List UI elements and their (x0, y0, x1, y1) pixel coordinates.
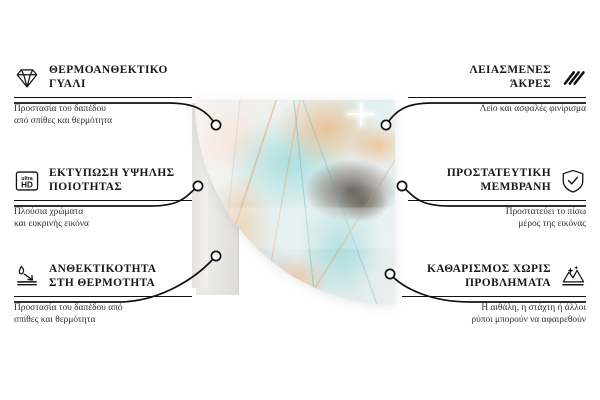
infographic-stage: ΘΕΡΜΟΑΝΘΕΚΤΙΚΟ ΓΥΑΛΙ Προστασία του δαπέδ… (0, 0, 600, 400)
feature-header: ΚΑΘΑΡΙΣΜΟΣ ΧΩΡΙΣ ΠΡΟΒΛΗΜΑΤΑ (402, 263, 586, 291)
connector-dot-left-2 (193, 181, 202, 190)
feature-title: ΠΡΟΣΤΑΤΕΥΤΙΚΗ ΜΕΜΒΡΑΝΗ (408, 167, 551, 195)
connector-dot-right-3 (385, 269, 394, 278)
feature-divider (408, 200, 586, 201)
connector-dot-right-1 (381, 120, 390, 129)
feature-header: ΘΕΡΜΟΑΝΘΕΚΤΙΚΟ ΓΥΑΛΙ (14, 64, 192, 92)
feature-header: ΛΕΙΑΣΜΕΝΕΣ ΆΚΡΕΣ (408, 64, 586, 92)
feature-protective-film: ΠΡΟΣΤΑΤΕΥΤΙΚΗ ΜΕΜΒΡΑΝΗ Προστατεύει το πί… (408, 167, 586, 231)
diamond-icon (14, 65, 40, 91)
feature-header: ultra HD ΕΚΤΥΠΩΣΗ ΥΨΗΛΗΣ ΠΟΙΟΤΗΤΑΣ (14, 167, 192, 195)
connector-dot-left-3 (211, 251, 220, 260)
feature-title: ΕΚΤΥΠΩΣΗ ΥΨΗΛΗΣ ΠΟΙΟΤΗΤΑΣ (49, 167, 174, 195)
connector-dot-right-2 (397, 181, 406, 190)
connector-dot-left-1 (211, 120, 220, 129)
feature-subtitle: Προστασία του δαπέδου από σπίθες και θερ… (14, 302, 192, 327)
feature-heat-resistance: ΑΝΘΕΚΤΙΚΟΤΗΤΑ ΣΤΗ ΘΕΡΜΟΤΗΤΑ Προστασία το… (14, 263, 192, 327)
heat-resistance-icon (14, 264, 40, 290)
feature-divider (14, 296, 192, 297)
feature-heat-resistant-glass: ΘΕΡΜΟΑΝΘΕΚΤΙΚΟ ΓΥΑΛΙ Προστασία του δαπέδ… (14, 64, 192, 128)
feature-title: ΚΑΘΑΡΙΣΜΟΣ ΧΩΡΙΣ ΠΡΟΒΛΗΜΑΤΑ (402, 263, 551, 291)
feature-header: ΠΡΟΣΤΑΤΕΥΤΙΚΗ ΜΕΜΒΡΑΝΗ (408, 167, 586, 195)
feature-header: ΑΝΘΕΚΤΙΚΟΤΗΤΑ ΣΤΗ ΘΕΡΜΟΤΗΤΑ (14, 263, 192, 291)
feature-subtitle: Η αιθάλη, η στάχτη ή άλλοι ρύποι μπορούν… (402, 302, 586, 327)
polished-edges-icon (560, 65, 586, 91)
sparkle-clean-icon (560, 264, 586, 290)
feature-subtitle: Λείο και ασφαλές φινίρισμα (408, 103, 586, 115)
feature-divider (14, 200, 192, 201)
feature-title: ΘΕΡΜΟΑΝΘΕΚΤΙΚΟ ΓΥΑΛΙ (49, 64, 168, 92)
feature-subtitle: Προστασία του δαπέδου από σπίθες και θερ… (14, 103, 192, 128)
svg-text:HD: HD (21, 180, 33, 189)
shield-check-icon (560, 168, 586, 194)
feature-subtitle: Πλούσια χρώματα και ευκρινής εικόνα (14, 206, 192, 231)
feature-title: ΑΝΘΕΚΤΙΚΟΤΗΤΑ ΣΤΗ ΘΕΡΜΟΤΗΤΑ (49, 263, 156, 291)
feature-easy-cleaning: ΚΑΘΑΡΙΣΜΟΣ ΧΩΡΙΣ ΠΡΟΒΛΗΜΑΤΑ Η αιθάλη, η … (402, 263, 586, 327)
feature-title: ΛΕΙΑΣΜΕΝΕΣ ΆΚΡΕΣ (408, 64, 551, 92)
feature-high-quality-print: ultra HD ΕΚΤΥΠΩΣΗ ΥΨΗΛΗΣ ΠΟΙΟΤΗΤΑΣ Πλούσ… (14, 167, 192, 231)
feature-divider (408, 97, 586, 98)
feature-divider (14, 97, 192, 98)
feature-divider (402, 296, 586, 297)
feature-polished-edges: ΛΕΙΑΣΜΕΝΕΣ ΆΚΡΕΣ Λείο και ασφαλές φινίρι… (408, 64, 586, 115)
ultra-hd-icon: ultra HD (14, 168, 40, 194)
feature-subtitle: Προστατεύει το πίσω μέρος της εικόνας (408, 206, 586, 231)
